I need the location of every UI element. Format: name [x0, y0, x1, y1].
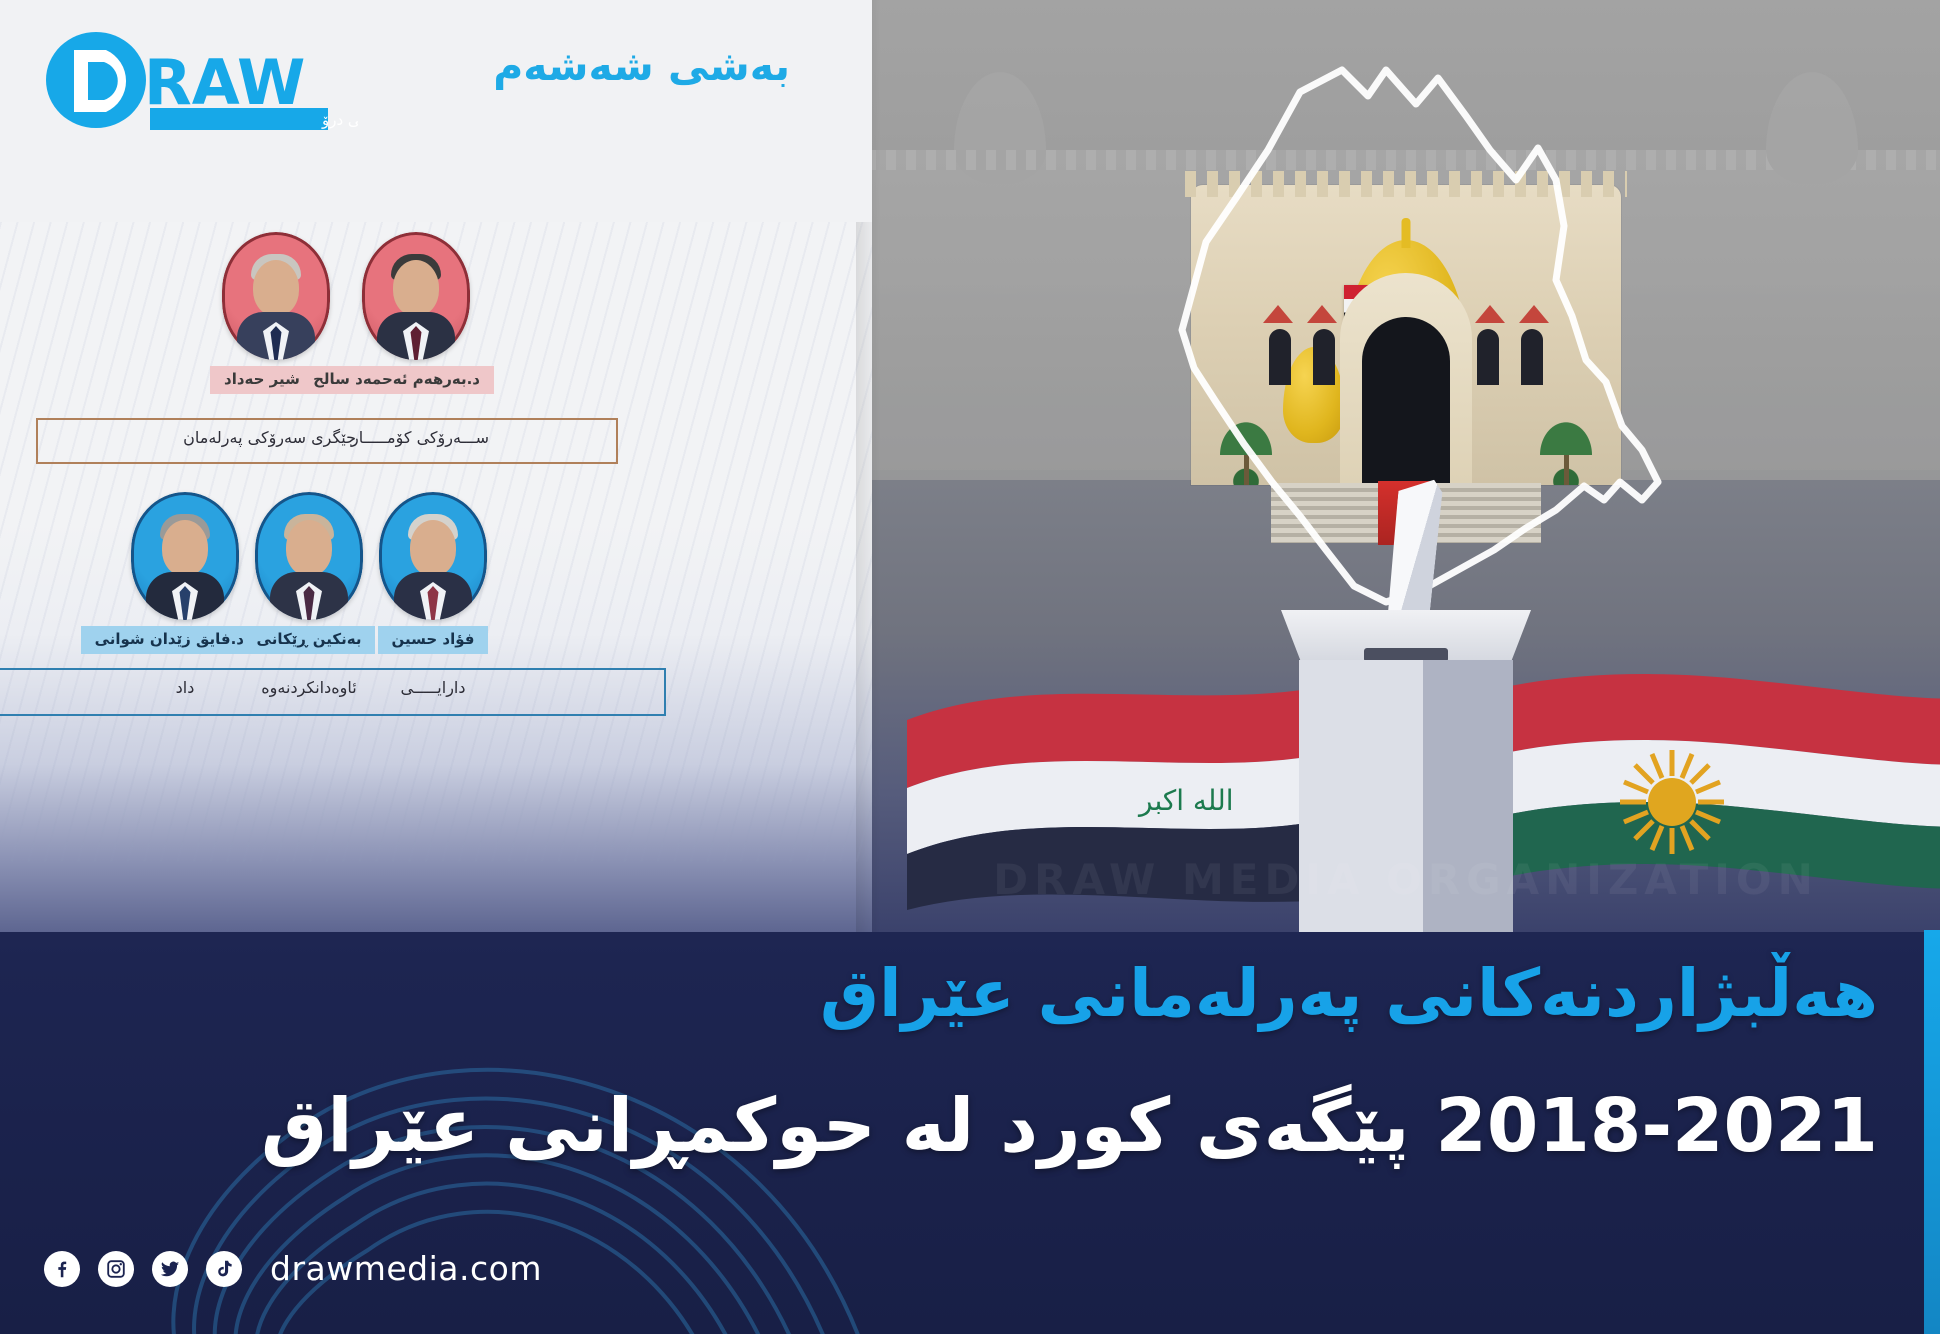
entrance-portal	[1340, 273, 1472, 485]
headline-years: 2018-2021	[1435, 1083, 1878, 1169]
chart-connector-bottom-lower	[0, 714, 664, 716]
kurdistan-sun-icon	[1620, 750, 1724, 854]
avatar	[379, 492, 487, 620]
avatar	[131, 492, 239, 620]
arched-window-icon	[1477, 329, 1499, 385]
window-gable-icon	[1475, 305, 1505, 323]
person-role: جێگری سەرۆکی پەرلەمان	[196, 428, 356, 447]
window-gable-icon	[1307, 305, 1337, 323]
avatar	[255, 492, 363, 620]
chart-connector-bottom	[0, 668, 664, 670]
chapter-label: بەشی شەشەم	[0, 42, 790, 90]
person-name: د.بەرهەم ئەحمەد سالح	[299, 366, 494, 394]
logo-tagline: دامەزراوەی میدیایی درۆ	[321, 111, 358, 129]
iraq-flag-script: الله اكبر	[1137, 784, 1234, 817]
parliament-building	[1191, 185, 1621, 485]
avatar	[362, 232, 470, 360]
palm-tree-icon	[1533, 411, 1599, 485]
palm-tree-icon	[1213, 411, 1279, 485]
org-node-president[interactable]: د.بەرهەم ئەحمەد سالح	[338, 232, 494, 394]
headline-blue: هەڵبژاردنەکانی پەرلەمانی عێراق	[820, 958, 1878, 1031]
avatar	[222, 232, 330, 360]
person-role: ســـەرۆکی کۆمـــــار	[340, 428, 500, 447]
arched-window-icon	[1269, 329, 1291, 385]
window-gable-icon	[1263, 305, 1293, 323]
instagram-icon[interactable]	[98, 1251, 134, 1287]
watermark-text: DRAW MEDIA ORGANIZATION	[872, 855, 1940, 904]
person-role: دارایـــــی	[358, 678, 508, 697]
footer-bar: drawmedia.com	[44, 1249, 542, 1288]
website-url[interactable]: drawmedia.com	[270, 1249, 542, 1288]
chart-connector-bottom-right	[664, 668, 666, 716]
right-accent-bar	[1924, 930, 1940, 1334]
chart-connector-top-right	[616, 418, 618, 464]
tiktok-icon[interactable]	[206, 1251, 242, 1287]
facebook-icon[interactable]	[44, 1251, 80, 1287]
person-name: د.فایق زێدان شوانی	[81, 626, 258, 654]
chart-connector-top-bottom	[36, 462, 616, 464]
chart-connector-top	[36, 418, 616, 420]
twitter-icon[interactable]	[152, 1251, 188, 1287]
crenellation-band	[872, 150, 1940, 170]
arched-window-icon	[1313, 329, 1335, 385]
headline-white: 2018-2021 پێگەی کورد لە حوکمڕانی عێراق	[261, 1086, 1878, 1167]
person-name: بەنکین ڕێکانی	[243, 626, 376, 654]
headline-white-text: پێگەی کورد لە حوکمڕانی عێراق	[261, 1083, 1410, 1169]
hero-photo-composition: الله اكبر	[872, 0, 1940, 932]
org-chart: د.بەشیر حەداد د.بەرهەم ئەحمەد سالح جێگری…	[0, 222, 872, 862]
ballot-box-lid	[1281, 610, 1531, 662]
arched-window-icon	[1521, 329, 1543, 385]
person-name: فؤاد حسین	[378, 626, 489, 654]
chart-connector-top-left	[36, 418, 38, 464]
building-crenellation	[1185, 171, 1627, 197]
org-node-finance[interactable]: فؤاد حسین	[360, 492, 506, 654]
poster-root: الله اكبر	[0, 0, 1940, 1334]
window-gable-icon	[1519, 305, 1549, 323]
logo-tagline-bar	[150, 108, 328, 130]
entrance-door	[1362, 317, 1450, 485]
